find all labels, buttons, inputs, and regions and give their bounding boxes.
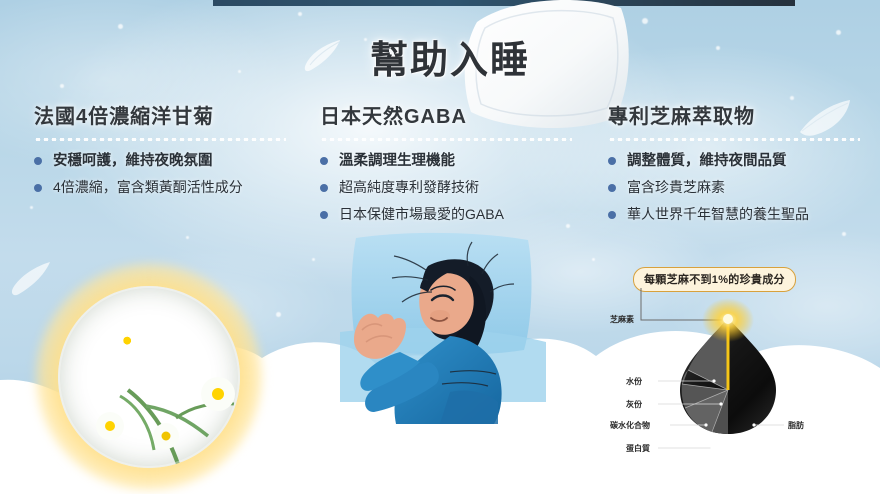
diagram-label-ash: 灰份 <box>626 399 642 410</box>
column-gaba: 日本天然GABA 溫柔調理生理機能 超高純度專利發酵技術 日本保健市場最愛的GA… <box>320 100 592 239</box>
bullet-list: 安穩呵護，維持夜晚氛圍 4倍濃縮，富含類黃酮活性成分 <box>34 152 306 197</box>
list-item-label: 日本保健市場最愛的GABA <box>339 206 504 222</box>
dotted-divider <box>608 138 860 141</box>
infographic-canvas: 幫助入睡 法國4倍濃縮洋甘菊 安穩呵護，維持夜晚氛圍 4倍濃縮，富含類黃酮活性成… <box>0 0 880 494</box>
bullet-dot-icon <box>320 157 328 165</box>
bullet-dot-icon <box>608 184 616 192</box>
sleeping-woman-illustration <box>300 232 550 432</box>
diagram-label-sesamin: 芝麻素 <box>610 314 634 325</box>
chamomile-photo <box>58 286 240 468</box>
list-item: 日本保健市場最愛的GABA <box>320 206 592 224</box>
list-item-label: 安穩呵護，維持夜晚氛圍 <box>53 153 213 169</box>
list-item-label: 4倍濃縮，富含類黃酮活性成分 <box>53 179 243 195</box>
column-heading: 專利芝麻萃取物 <box>608 100 880 129</box>
bullet-dot-icon <box>608 211 616 219</box>
column-chamomile: 法國4倍濃縮洋甘菊 安穩呵護，維持夜晚氛圍 4倍濃縮，富含類黃酮活性成分 <box>34 100 306 213</box>
photo-stems <box>58 286 240 468</box>
bullet-dot-icon <box>608 157 616 165</box>
list-item-label: 華人世界千年智慧的養生聖品 <box>627 206 809 222</box>
list-item-label: 溫柔調理生理機能 <box>339 153 455 169</box>
column-heading: 法國4倍濃縮洋甘菊 <box>34 100 306 129</box>
column-sesame: 專利芝麻萃取物 調整體質，維持夜間品質 富含珍貴芝麻素 華人世界千年智慧的養生聖… <box>608 100 880 239</box>
list-item-label: 調整體質，維持夜間品質 <box>627 153 787 169</box>
list-item-label: 富含珍貴芝麻素 <box>627 179 725 195</box>
dotted-divider <box>320 138 572 141</box>
list-item: 安穩呵護，維持夜晚氛圍 <box>34 152 306 170</box>
dotted-divider <box>34 138 286 141</box>
diagram-label-moisture: 水份 <box>626 376 642 387</box>
list-item: 4倍濃縮，富含類黃酮活性成分 <box>34 179 306 197</box>
bullet-dot-icon <box>320 184 328 192</box>
feather-icon <box>300 36 344 76</box>
bullet-list: 溫柔調理生理機能 超高純度專利發酵技術 日本保健市場最愛的GABA <box>320 152 592 223</box>
bullet-dot-icon <box>320 211 328 219</box>
sesame-composition-diagram: 每顆芝麻不到1%的珍貴成分 <box>608 262 880 462</box>
page-title: 幫助入睡 <box>355 29 545 84</box>
column-heading: 日本天然GABA <box>320 100 592 129</box>
diagram-label-carbohydrate: 碳水化合物 <box>610 420 650 431</box>
diagram-label-protein: 蛋白質 <box>626 443 650 454</box>
bullet-dot-icon <box>34 184 42 192</box>
list-item-label: 超高純度專利發酵技術 <box>339 179 479 195</box>
list-item: 華人世界千年智慧的養生聖品 <box>608 206 880 224</box>
bullet-dot-icon <box>34 157 42 165</box>
bullet-list: 調整體質，維持夜間品質 富含珍貴芝麻素 華人世界千年智慧的養生聖品 <box>608 152 880 223</box>
list-item: 超高純度專利發酵技術 <box>320 179 592 197</box>
list-item: 富含珍貴芝麻素 <box>608 179 880 197</box>
droplet-chart <box>608 262 880 462</box>
diagram-label-fat: 脂肪 <box>788 420 804 431</box>
list-item: 調整體質，維持夜間品質 <box>608 152 880 170</box>
list-item: 溫柔調理生理機能 <box>320 152 592 170</box>
